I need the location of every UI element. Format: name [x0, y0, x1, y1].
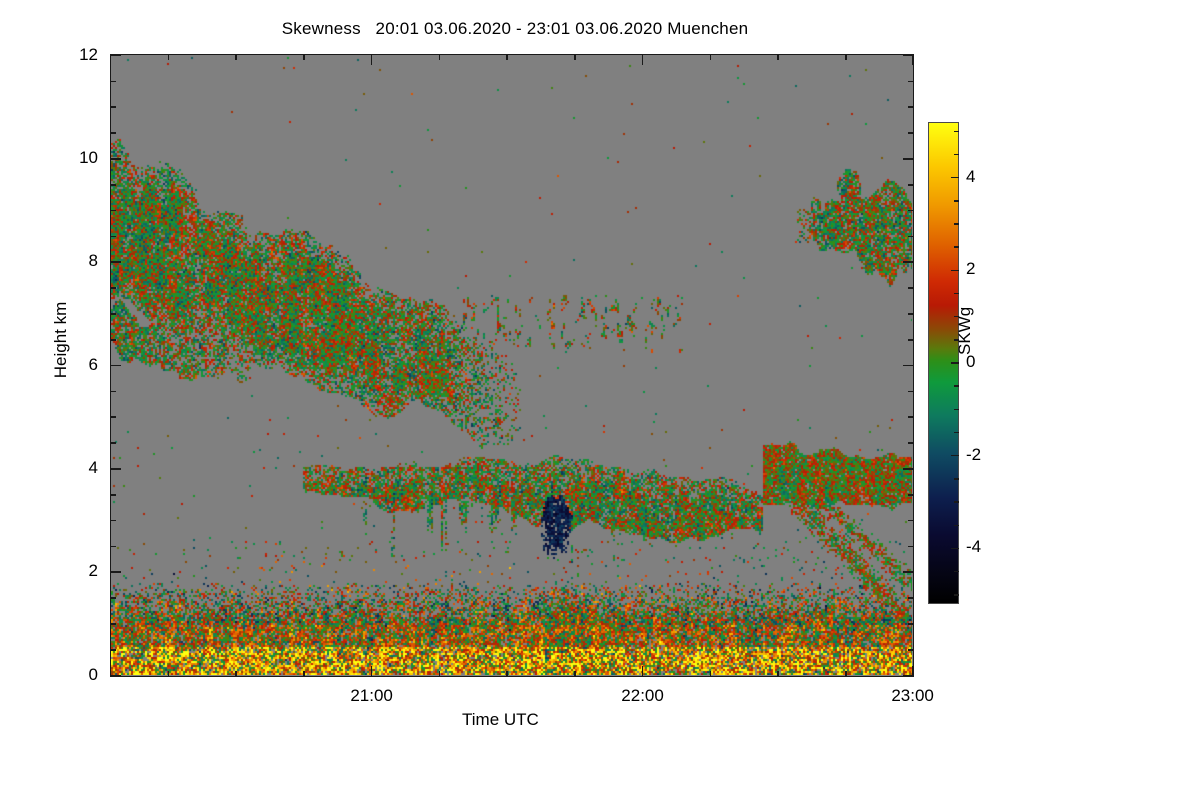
y-axis-minor-tick: [110, 623, 116, 625]
y-axis-tick-label: 4: [52, 458, 98, 478]
y-axis-minor-tick: [110, 520, 116, 522]
x-axis-minor-tick: [710, 671, 712, 677]
x-axis-tick-label: 23:00: [868, 686, 958, 706]
y-axis-minor-tick: [110, 546, 116, 548]
y-axis-tick: [110, 55, 121, 57]
y-axis-minor-tick: [110, 494, 116, 496]
y-axis-minor-tick: [110, 391, 116, 393]
y-axis-minor-tick: [908, 132, 914, 134]
y-axis-minor-tick: [110, 649, 116, 651]
y-axis-minor-tick: [110, 416, 116, 418]
heatmap-plot-area: [110, 54, 914, 677]
colorbar-minor-tick: [954, 154, 959, 156]
x-axis-tick: [371, 54, 373, 65]
x-axis-minor-tick: [845, 54, 847, 60]
y-axis-tick: [903, 365, 914, 367]
y-axis-tick: [110, 158, 121, 160]
x-axis-minor-tick: [574, 671, 576, 677]
y-axis-minor-tick: [908, 106, 914, 108]
x-axis-minor-tick: [506, 671, 508, 677]
y-axis-minor-tick: [908, 416, 914, 418]
y-axis-tick-label: 2: [52, 561, 98, 581]
y-axis-minor-tick: [110, 210, 116, 212]
colorbar-minor-tick: [954, 432, 959, 434]
colorbar-minor-tick: [954, 525, 959, 527]
colorbar-minor-tick: [954, 571, 959, 573]
y-axis-tick: [110, 675, 121, 677]
y-axis-minor-tick: [110, 597, 116, 599]
y-axis-minor-tick: [908, 287, 914, 289]
y-axis-tick-label: 10: [52, 148, 98, 168]
colorbar-minor-tick: [954, 478, 959, 480]
colorbar-tick-label: 2: [966, 259, 1010, 279]
x-axis-minor-tick: [303, 671, 305, 677]
x-axis-minor-tick: [168, 671, 170, 677]
x-axis-tick: [912, 666, 914, 677]
y-axis-minor-tick: [908, 81, 914, 83]
colorbar-tick: [951, 455, 959, 457]
y-axis-minor-tick: [908, 649, 914, 651]
y-axis-minor-tick: [908, 520, 914, 522]
y-axis-minor-tick: [110, 313, 116, 315]
colorbar-minor-tick: [954, 246, 959, 248]
colorbar-minor-tick: [954, 223, 959, 225]
y-axis-minor-tick: [110, 106, 116, 108]
y-axis-tick: [110, 468, 121, 470]
x-axis-tick: [642, 54, 644, 65]
x-axis-minor-tick: [777, 671, 779, 677]
colorbar-minor-tick: [954, 385, 959, 387]
y-axis-minor-tick: [908, 236, 914, 238]
y-axis-tick-label: 8: [52, 251, 98, 271]
colorbar-tick-label: -2: [966, 445, 1010, 465]
x-axis-minor-tick: [439, 54, 441, 60]
y-axis-minor-tick: [110, 184, 116, 186]
y-axis-title: Height km: [51, 270, 71, 410]
colorbar-minor-tick: [954, 409, 959, 411]
x-axis-title: Time UTC: [462, 710, 539, 730]
colorbar-tick-label: -4: [966, 537, 1010, 557]
y-axis-tick-label: 0: [52, 665, 98, 685]
y-axis-minor-tick: [110, 442, 116, 444]
x-axis-minor-tick: [845, 671, 847, 677]
x-axis-tick-label: 21:00: [327, 686, 417, 706]
y-axis-minor-tick: [908, 442, 914, 444]
x-axis-minor-tick: [574, 54, 576, 60]
colorbar-minor-tick: [954, 131, 959, 133]
y-axis-minor-tick: [110, 339, 116, 341]
y-axis-minor-tick: [908, 184, 914, 186]
colorbar-minor-tick: [954, 594, 959, 596]
y-axis-minor-tick: [908, 210, 914, 212]
x-axis-tick: [912, 54, 914, 65]
x-axis-minor-tick: [235, 671, 237, 677]
y-axis-minor-tick: [908, 391, 914, 393]
colorbar-minor-tick: [954, 200, 959, 202]
y-axis-tick: [110, 365, 121, 367]
y-axis-tick: [903, 468, 914, 470]
y-axis-minor-tick: [908, 546, 914, 548]
colorbar-title: SKWg: [955, 307, 975, 355]
colorbar-tick: [951, 270, 959, 272]
y-axis-tick-label: 12: [52, 45, 98, 65]
colorbar-tick-label: 4: [966, 167, 1010, 187]
x-axis-minor-tick: [777, 54, 779, 60]
y-axis-tick: [110, 571, 121, 573]
y-axis-minor-tick: [908, 339, 914, 341]
x-axis-minor-tick: [506, 54, 508, 60]
y-axis-minor-tick: [110, 236, 116, 238]
colorbar-tick: [951, 362, 959, 364]
y-axis-minor-tick: [908, 313, 914, 315]
x-axis-tick-label: 22:00: [598, 686, 688, 706]
x-axis-minor-tick: [235, 54, 237, 60]
y-axis-minor-tick: [908, 623, 914, 625]
heatmap-canvas: [111, 55, 912, 675]
colorbar-tick: [951, 177, 959, 179]
y-axis-tick: [110, 261, 121, 263]
y-axis-tick: [903, 571, 914, 573]
y-axis-minor-tick: [908, 597, 914, 599]
x-axis-minor-tick: [303, 54, 305, 60]
y-axis-minor-tick: [110, 287, 116, 289]
page-title: Skewness 20:01 03.06.2020 - 23:01 03.06.…: [0, 19, 1030, 39]
y-axis-minor-tick: [110, 81, 116, 83]
colorbar-minor-tick: [954, 501, 959, 503]
plot-root: Skewness 20:01 03.06.2020 - 23:01 03.06.…: [0, 0, 1200, 800]
x-axis-tick: [642, 666, 644, 677]
y-axis-tick: [903, 261, 914, 263]
colorbar-minor-tick: [954, 293, 959, 295]
y-axis-tick: [903, 158, 914, 160]
x-axis-minor-tick: [710, 54, 712, 60]
y-axis-minor-tick: [110, 132, 116, 134]
colorbar-tick-label: 0: [966, 352, 1010, 372]
x-axis-minor-tick: [168, 54, 170, 60]
colorbar-tick: [951, 548, 959, 550]
x-axis-tick: [371, 666, 373, 677]
y-axis-minor-tick: [908, 494, 914, 496]
x-axis-minor-tick: [439, 671, 441, 677]
